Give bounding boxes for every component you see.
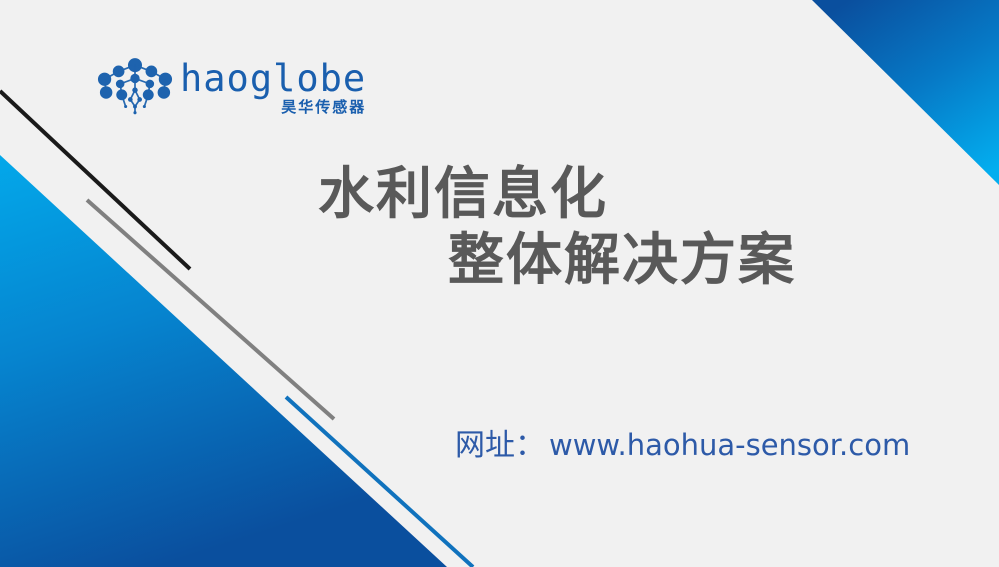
blue-accent-line xyxy=(286,397,473,567)
title-line-1: 水利信息化 xyxy=(318,162,999,228)
website-url[interactable]: www.haohua-sensor.com xyxy=(549,428,910,462)
brand-wordmark: haoglobe xyxy=(180,60,366,97)
brand-wordmark-group: haoglobe 昊华传感器 xyxy=(180,60,366,115)
network-nodes-icon xyxy=(96,58,174,116)
slide-canvas: haoglobe 昊华传感器 水利信息化 整体解决方案 网址： www.haoh… xyxy=(0,0,999,567)
brand-chinese-name: 昊华传感器 xyxy=(281,100,366,115)
title-line-2: 整体解决方案 xyxy=(448,228,999,294)
brand-logo[interactable]: haoglobe 昊华传感器 xyxy=(96,58,366,116)
right-blue-triangle xyxy=(812,0,999,185)
website-line[interactable]: 网址： www.haohua-sensor.com xyxy=(455,420,910,464)
page-title: 水利信息化 整体解决方案 xyxy=(0,162,999,294)
website-label: 网址： xyxy=(455,420,545,464)
